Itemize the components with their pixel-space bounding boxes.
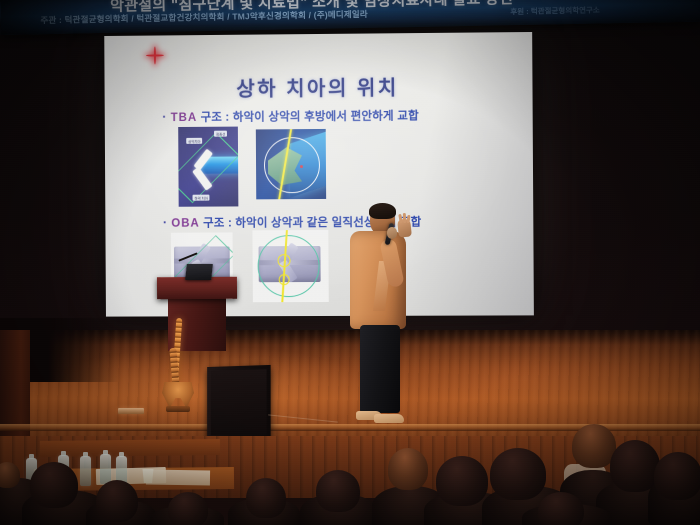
bullet-code: TBA — [171, 112, 198, 124]
bullet-marker: · — [162, 109, 167, 124]
banner-organizers-prefix: 주관 : — [40, 15, 62, 25]
handout-papers — [146, 470, 210, 486]
bullet-label: 구조 : — [201, 112, 230, 124]
audience-head — [168, 492, 208, 525]
bullet-code: OBA — [171, 218, 199, 230]
laptop — [185, 264, 213, 280]
photograph-stage-presentation: 악관절의 "침구단계 및 치료법" 소개 및 임상치료사례 발표 강연 주관 :… — [0, 0, 700, 525]
pelvis — [162, 382, 194, 408]
audience-head — [246, 478, 286, 518]
bullet-label: 구조 : — [203, 217, 232, 229]
slide-bullet-tba: ·TBA 구조 : 하악이 상악의 후방에서 편안하게 교합 — [162, 107, 419, 125]
water-bottle — [80, 456, 91, 486]
spine-anatomical-model — [158, 318, 200, 418]
paper-cup — [142, 469, 154, 483]
banner-sponsor: 후원 : 턱관절균형의학연구소 — [510, 4, 600, 17]
figure-annotation-b: 정중선 — [214, 131, 227, 137]
projection-screen: 상하 치아의 위치 ·TBA 구조 : 하악이 상악의 후방에서 편안하게 교합… — [104, 32, 534, 317]
figure-circle-overlay — [264, 137, 320, 193]
audience-head — [538, 492, 584, 525]
presenter — [346, 205, 424, 440]
stage-side-wall — [0, 330, 30, 450]
audience-head — [96, 480, 138, 522]
speaker-grille — [211, 369, 267, 437]
figure-annotation-c: 하악 치아 — [193, 195, 210, 201]
figure-tba-xray-diagram — [256, 129, 326, 199]
figure-circle-overlay — [257, 235, 319, 297]
presenter-hair — [369, 203, 396, 219]
model-base — [166, 406, 190, 412]
audience-head — [654, 452, 700, 500]
audience-head — [436, 456, 488, 506]
bullet-text: 하악이 상악의 후방에서 편안하게 교합 — [233, 110, 419, 123]
laser-star-icon — [146, 46, 164, 64]
slide-title: 상하 치아의 위치 — [104, 70, 532, 102]
presenter-trousers — [360, 325, 400, 413]
audience-head — [0, 462, 20, 488]
stage-monitor-speaker — [207, 365, 270, 441]
bullet-marker: · — [163, 215, 168, 230]
figure-tba-rhombus-diagram: 상악치아 정중선 하악 치아 — [178, 127, 238, 207]
figure-oba-circle-diagram — [252, 230, 328, 302]
figure-annotation-a: 상악치아 — [186, 138, 202, 144]
audience-head — [490, 448, 546, 500]
audience-head — [388, 448, 428, 490]
banner-organizers: 주관 : 턱관절균형의학회 / 턱관절교합건강치의학회 / TMJ악후신경의학회… — [40, 8, 368, 26]
power-strip — [118, 408, 144, 414]
lectern-top — [157, 277, 237, 300]
presenter-hand-holding-mic — [387, 227, 397, 239]
presenter-shoe-right — [374, 414, 404, 423]
audience-head — [316, 470, 360, 512]
audience-head — [30, 462, 78, 508]
water-bottle — [100, 454, 111, 484]
